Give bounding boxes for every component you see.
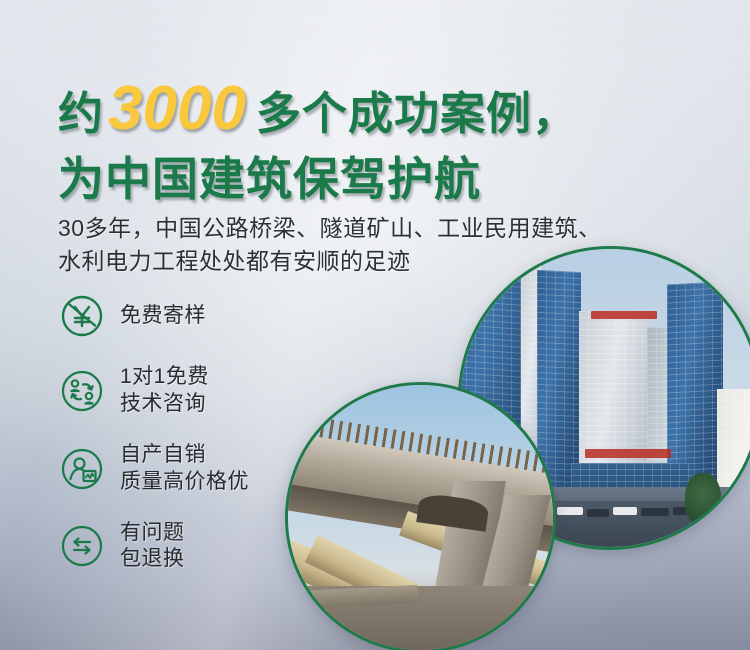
bridge-photo-inner [288, 385, 553, 650]
car [557, 507, 583, 515]
headline-number: 3000 [108, 78, 246, 140]
feature-item-free-sample[interactable]: 免费寄样 [58, 292, 378, 340]
feature-label-line-2: 技术咨询 [120, 391, 209, 418]
tree [685, 473, 721, 525]
feature-label-line-1: 有问题 [120, 520, 185, 547]
person-chart-icon [58, 445, 106, 493]
feature-label-line-1: 免费寄样 [120, 303, 206, 330]
car [613, 507, 637, 515]
feature-label: 1对1免费 技术咨询 [120, 364, 209, 418]
feature-label-line-2: 质量高价格优 [120, 469, 249, 496]
feature-label: 免费寄样 [120, 303, 206, 330]
headline-line-1: 约 3000 多个成功案例， [58, 78, 718, 140]
return-exchange-icon [58, 522, 106, 570]
promo-banner: 约 3000 多个成功案例， 为中国建筑保驾护航 30多年，中国公路桥梁、隧道矿… [0, 0, 750, 650]
headline-suffix: 多个成功案例， [256, 91, 578, 136]
feature-label-line-2: 包退换 [120, 546, 185, 573]
car [641, 508, 669, 516]
headline: 约 3000 多个成功案例， 为中国建筑保驾护航 [58, 78, 718, 202]
feature-label-line-1: 1对1免费 [120, 364, 209, 391]
subtitle-line-1: 30多年，中国公路桥梁、隧道矿山、工业民用建筑、 [58, 212, 738, 245]
headline-prefix: 约 [58, 91, 104, 136]
no-fee-yuan-icon [58, 292, 106, 340]
roof-sign [591, 311, 657, 319]
feature-label: 有问题 包退换 [120, 520, 185, 574]
headline-line-2: 为中国建筑保驾护航 [58, 156, 718, 202]
one-to-one-consult-icon [58, 367, 106, 415]
feature-label: 自产自销 质量高价格优 [120, 442, 249, 496]
subtitle: 30多年，中国公路桥梁、隧道矿山、工业民用建筑、 水利电力工程处处都有安顺的足迹 [58, 212, 738, 277]
bridge-photo [285, 382, 556, 650]
car [587, 509, 609, 517]
facade-sign [585, 449, 671, 458]
feature-label-line-1: 自产自销 [120, 442, 249, 469]
subtitle-line-2: 水利电力工程处处都有安顺的足迹 [58, 245, 738, 278]
